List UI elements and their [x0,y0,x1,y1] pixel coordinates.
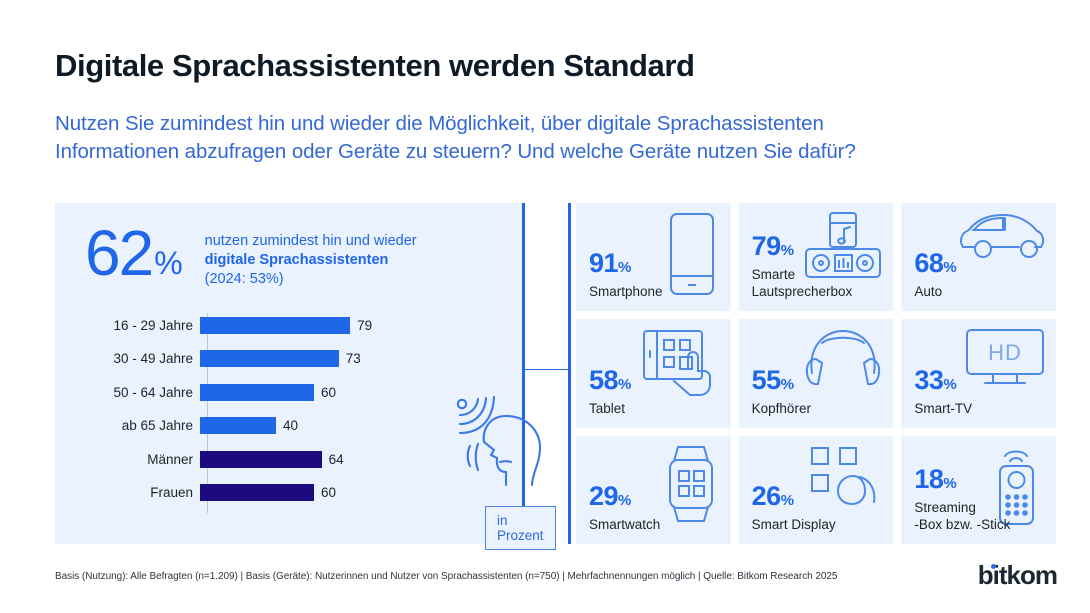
unit-legend-badge: in Prozent [485,506,556,550]
bar [200,484,314,501]
voice-head-icon [450,388,562,505]
device-card-text: 91%Smartphone [589,249,663,300]
device-card-text: 18%Streaming-Box bzw. -Stick [914,465,1010,533]
bitkom-logo-text: bitkom [978,560,1057,590]
subtitle-line-2: Informationen abzufragen oder Geräte zu … [55,138,1015,166]
device-card-text: 26%Smart Display [752,482,836,533]
device-value-number: 33 [914,365,943,395]
device-value-percent-sign: % [618,376,631,393]
device-value-percent-sign: % [943,259,956,276]
device-value-percent-sign: % [618,492,631,509]
infographic-page: Digitale Sprachassistenten werden Standa… [0,0,1090,613]
device-value-number: 18 [914,464,943,494]
device-value-percent-sign: % [781,376,794,393]
bar-row-label: 50 - 64 Jahre [55,385,200,400]
device-value-percent-sign: % [781,492,794,509]
bar-row-label: 30 - 49 Jahre [55,351,200,366]
device-value-percent-sign: % [943,475,956,492]
device-card: 18%Streaming-Box bzw. -Stick [901,436,1056,544]
device-card: 58%Tablet [576,319,731,427]
smartwatch-icon [660,444,722,529]
device-card-label: Smartwatch [589,516,660,533]
desc-part-2: (2024: 53%) [205,271,284,287]
bar-row-label: Frauen [55,485,200,500]
headphones-icon [802,327,884,396]
device-card: 68%Auto [901,203,1056,311]
device-card-value: 29% [589,482,660,515]
panel-connector-line [525,369,571,370]
device-value-percent-sign: % [781,242,794,259]
device-card-value: 79% [752,232,853,265]
device-card-label: SmarteLautsprecherbox [752,266,853,300]
device-card-value: 91% [589,249,663,282]
left-panel: 62 % nutzen zumindest hin und wieder dig… [55,203,525,544]
device-card-value: 68% [914,249,956,282]
bar-row-label: ab 65 Jahre [55,418,200,433]
device-card: 26%Smart Display [739,436,894,544]
device-card-value: 55% [752,366,811,399]
bar-row: 16 - 29 Jahre79 [55,313,525,337]
page-title: Digitale Sprachassistenten werden Standa… [55,48,695,84]
device-value-percent-sign: % [618,259,631,276]
desc-part-1: nutzen zumindest hin und wieder [205,233,417,249]
tablet-icon [640,327,722,406]
page-subtitle: Nutzen Sie zumindest hin und wieder die … [55,110,1015,166]
device-value-number: 79 [752,231,781,261]
car-icon [955,211,1047,272]
device-card-label: Smartphone [589,283,663,300]
svg-text:HD: HD [988,340,1022,365]
device-card-label: Kopfhörer [752,400,811,417]
device-card-value: 58% [589,366,631,399]
headline-stat: 62 % nutzen zumindest hin und wieder dig… [85,223,420,289]
desc-bold: digitale Sprachassistenten [205,252,389,268]
device-card: 79%SmarteLautsprecherbox [739,203,894,311]
bar [200,350,339,367]
device-card: HD33%Smart-TV [901,319,1056,427]
device-value-number: 58 [589,365,618,395]
device-value-percent-sign: % [943,376,956,393]
device-grid: 91%Smartphone 79%SmarteLautsprecherbox 6… [568,203,1056,544]
device-card-label: Smart-TV [914,400,972,417]
bar-value-label: 73 [346,351,361,366]
bar-row-label: Männer [55,452,200,467]
device-card: 55%Kopfhörer [739,319,894,427]
subtitle-line-1: Nutzen Sie zumindest hin und wieder die … [55,110,1015,138]
device-card-value: 26% [752,482,836,515]
device-card-text: 58%Tablet [589,366,631,417]
bar-value-label: 64 [329,452,344,467]
device-card-value: 18% [914,465,1010,498]
device-value-number: 26 [752,481,781,511]
bar-value-label: 40 [283,418,298,433]
device-card-label: Tablet [589,400,631,417]
device-card-text: 79%SmarteLautsprecherbox [752,232,853,300]
smartphone-icon [662,211,722,302]
bar-value-label: 60 [321,485,336,500]
device-value-number: 91 [589,248,618,278]
headline-stat-description: nutzen zumindest hin und wieder digitale… [205,232,420,289]
smart-tv-icon: HD [963,327,1047,394]
device-value-number: 29 [589,481,618,511]
device-card-label: Smart Display [752,516,836,533]
headline-stat-value: 62 [85,223,152,283]
device-value-number: 55 [752,365,781,395]
device-value-number: 68 [914,248,943,278]
bar [200,417,276,434]
bar [200,317,350,334]
bar-row-label: 16 - 29 Jahre [55,318,200,333]
bar [200,451,322,468]
device-card-value: 33% [914,366,972,399]
device-card-text: 55%Kopfhörer [752,366,811,417]
device-card-text: 29%Smartwatch [589,482,660,533]
device-card: 29%Smartwatch [576,436,731,544]
device-card-label: Streaming-Box bzw. -Stick [914,499,1010,533]
bar [200,384,314,401]
bar-value-label: 79 [357,318,372,333]
device-card: 91%Smartphone [576,203,731,311]
footer-source-note: Basis (Nutzung): Alle Befragten (n=1.209… [55,571,837,582]
bitkom-logo: bitkom [978,560,1057,591]
device-card-text: 33%Smart-TV [914,366,972,417]
device-card-text: 68%Auto [914,249,956,300]
bar-value-label: 60 [321,385,336,400]
device-card-label: Auto [914,283,956,300]
bar-row: 30 - 49 Jahre73 [55,347,525,371]
headline-stat-percent-sign: % [154,245,182,282]
